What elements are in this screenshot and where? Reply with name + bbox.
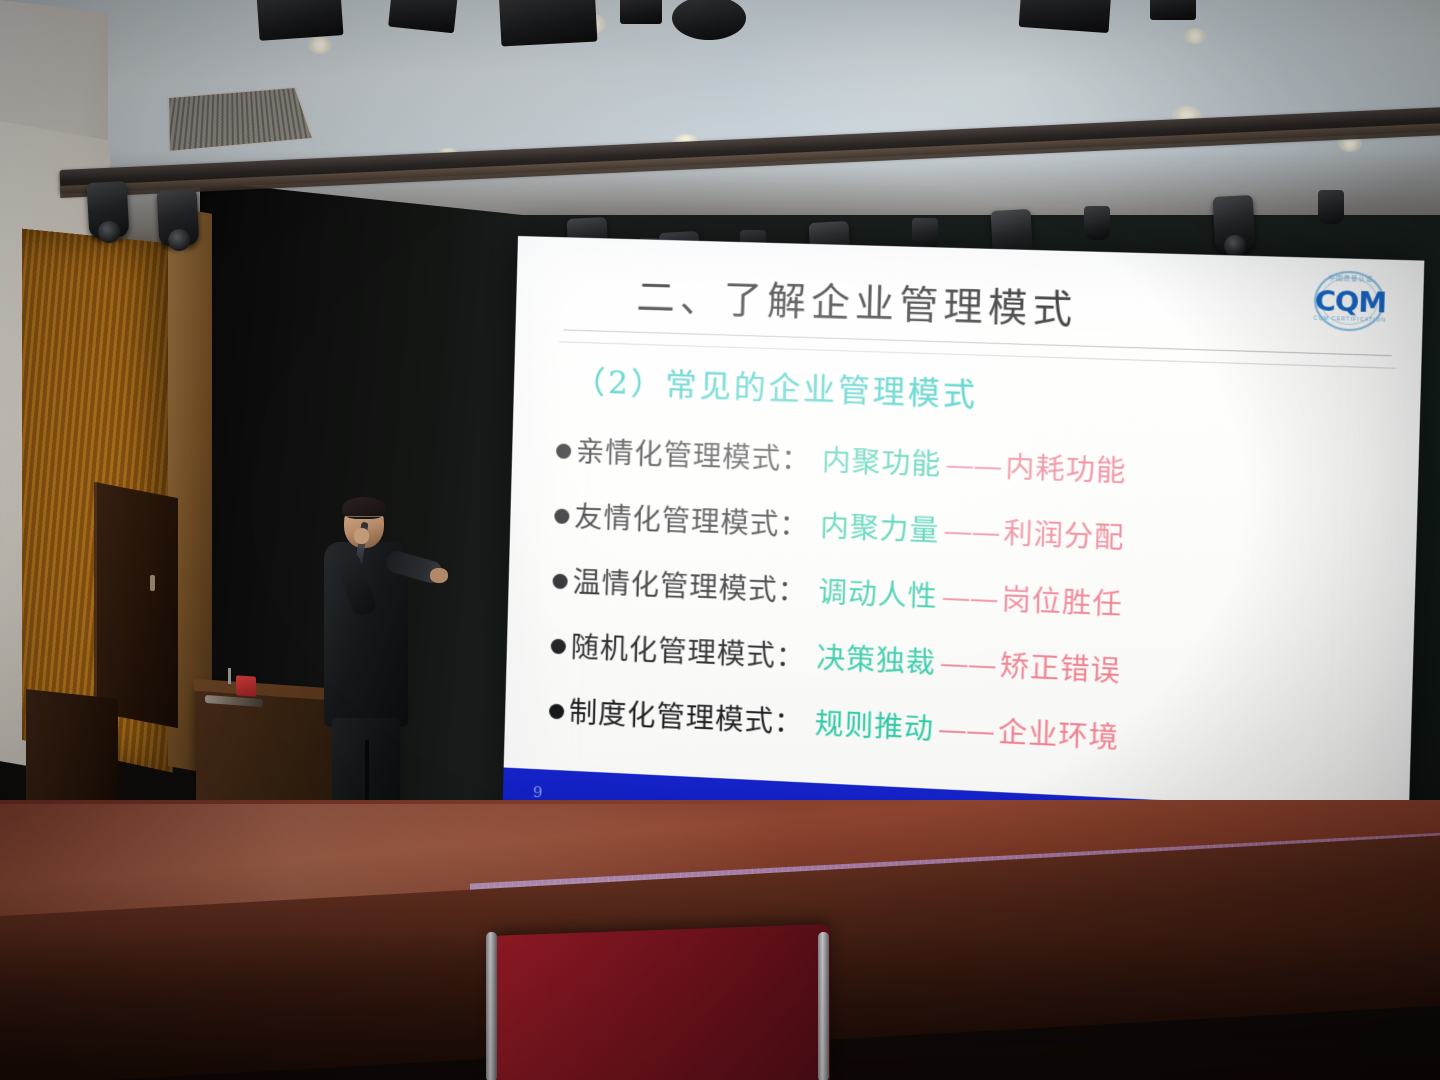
bullet-colon: ： bbox=[779, 503, 809, 545]
list-item: 温情化管理模式 ： 调动人性 —— 岗位胜任 bbox=[552, 560, 1402, 636]
bullet-term-left: 调动人性 bbox=[818, 570, 938, 616]
bullet-colon: ： bbox=[775, 634, 805, 676]
list-item: 随机化管理模式 ： 决策独裁 —— 矫正错误 bbox=[550, 625, 1400, 703]
bullet-dot-icon bbox=[552, 574, 567, 590]
bullet-dash: —— bbox=[935, 646, 1000, 682]
bullet-dash: —— bbox=[939, 514, 1004, 550]
cqm-logo: 中国质量认证 CQM CQM CERTIFICATION bbox=[1305, 268, 1396, 335]
bullet-label: 制度化管理模式 bbox=[569, 691, 775, 741]
seat-rail-right bbox=[818, 932, 829, 1080]
logo-top-text: 中国质量认证 bbox=[1306, 272, 1396, 284]
bullet-dot-icon bbox=[556, 443, 571, 459]
bullet-label: 温情化管理模式 bbox=[572, 560, 778, 609]
bullet-term-right: 企业环境 bbox=[998, 710, 1120, 757]
list-item: 友情化管理模式 ： 内聚力量 —— 利润分配 bbox=[554, 495, 1404, 569]
projection-screen: 二、了解企业管理模式 （2）常见的企业管理模式 亲情化管理模式 ： 内聚功能 —… bbox=[502, 236, 1425, 887]
conference-hall-scene: 二、了解企业管理模式 （2）常见的企业管理模式 亲情化管理模式 ： 内聚功能 —… bbox=[0, 0, 1440, 1080]
podium-red-object bbox=[236, 675, 256, 696]
bullet-dot-icon bbox=[551, 639, 566, 655]
bullet-dash: —— bbox=[937, 580, 1002, 616]
slide-title: 二、了解企业管理模式 bbox=[636, 265, 1078, 334]
bullet-term-left: 决策独裁 bbox=[816, 636, 936, 682]
title-divider bbox=[563, 329, 1391, 356]
bullet-term-left: 规则推动 bbox=[814, 702, 934, 748]
seat-rail-left bbox=[486, 932, 497, 1080]
bullet-dash: —— bbox=[941, 448, 1006, 484]
audience-seat bbox=[490, 924, 830, 1080]
bullet-term-right: 矫正错误 bbox=[999, 644, 1121, 690]
podium-microphone-icon bbox=[228, 668, 231, 684]
bullet-term-left: 内聚功能 bbox=[822, 439, 942, 484]
slide-subtitle: （2）常见的企业管理模式 bbox=[574, 356, 979, 415]
bullet-dot-icon bbox=[554, 509, 569, 525]
speaker-left-hand bbox=[354, 528, 369, 544]
bullet-label: 友情化管理模式 bbox=[574, 495, 780, 543]
bullet-term-right: 岗位胜任 bbox=[1001, 578, 1123, 624]
page-number: 9 bbox=[533, 783, 543, 801]
bullet-term-left: 内聚力量 bbox=[820, 505, 940, 550]
bullet-dash: —— bbox=[934, 713, 999, 750]
logo-bottom-text: CQM CERTIFICATION bbox=[1305, 315, 1395, 324]
bullet-dot-icon bbox=[549, 704, 564, 720]
bullet-colon: ： bbox=[774, 700, 804, 742]
bullet-label: 亲情化管理模式 bbox=[576, 430, 782, 478]
bullet-label: 随机化管理模式 bbox=[570, 625, 776, 674]
list-item: 制度化管理模式 ： 规则推动 —— 企业环境 bbox=[549, 690, 1399, 771]
bullet-term-right: 利润分配 bbox=[1003, 512, 1125, 558]
speaker-right-hand bbox=[430, 568, 448, 583]
list-item: 亲情化管理模式 ： 内聚功能 —— 内耗功能 bbox=[556, 429, 1406, 500]
bullet-term-right: 内耗功能 bbox=[1005, 445, 1127, 490]
bullet-colon: ： bbox=[781, 437, 811, 478]
bullet-colon: ： bbox=[777, 569, 807, 611]
slide-bullet-list: 亲情化管理模式 ： 内聚功能 —— 内耗功能 友情化管理模式 ： 内聚力量 ——… bbox=[548, 429, 1406, 796]
